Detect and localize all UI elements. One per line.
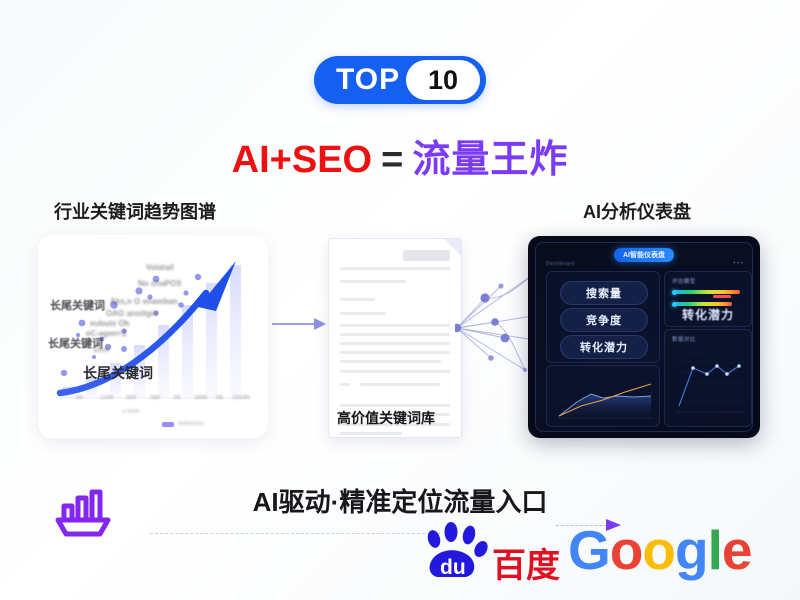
blurred-keyword-tag: eubuio Oh [90, 319, 130, 328]
document-label: 高价值关键词库 [337, 408, 435, 428]
metric-pill-search-volume[interactable]: 搜索量 [560, 281, 648, 305]
area-chart-panel [546, 365, 660, 427]
google-letter: l [708, 519, 722, 581]
gradient-bar-1 [674, 290, 740, 294]
baidu-du-text: du [440, 556, 466, 579]
axis-tick-label: 00 [174, 395, 181, 401]
blurred-keyword-tag: Volatail [146, 263, 174, 272]
blurred-keyword-tag: ssoit [93, 347, 109, 354]
blurred-keyword-tag: No shaPOS [138, 279, 182, 288]
keyword-trend-card: 长尾关键词 长尾关键词 长尾关键词 Volatail No shaPOS Aks… [38, 235, 268, 438]
line-chart-svg [665, 330, 751, 426]
gradient-gauge-panel: 评估模型 转化潜力 [664, 271, 752, 327]
ai-dashboard-card: AI智能仪表盘 Dashboard • • • 搜索量 竞争度 转化潜力 [528, 236, 760, 438]
title-left: AI+SEO [232, 139, 372, 181]
axis-tick-label: 00 [76, 395, 83, 401]
metric-pills-panel: 搜索量 竞争度 转化潜力 [546, 271, 660, 363]
top-badge-label: TOP [314, 56, 400, 104]
baidu-chinese-text: 百度 [492, 538, 560, 587]
gradient-overlay-label: 转化潜力 [665, 306, 751, 323]
axis-caption: 1-63m [122, 409, 139, 415]
gradient-panel-title: 评估模型 [672, 277, 696, 285]
blurred-keyword-tag: eC-agen=2 [86, 329, 127, 338]
bottom-tagline: AI驱动·精准定位流量入口 [0, 482, 800, 519]
google-letter: g [675, 519, 708, 581]
google-letter: o [642, 519, 675, 581]
google-logo: Google [568, 518, 751, 582]
axis-tick-label: 1346 [100, 395, 113, 401]
baidu-logo: du 百度 [420, 522, 560, 584]
blurred-keyword-tag: OAG anottgio [106, 309, 158, 318]
gradient-marker-1 [672, 290, 677, 295]
alert-indicator [713, 295, 731, 298]
area-chart-svg [547, 366, 659, 426]
axis-tick-label: 1006 [194, 395, 207, 401]
metric-pill-conversion[interactable]: 转化潜力 [560, 335, 648, 359]
axis-tick-label: 204 [126, 395, 136, 401]
slide-canvas: TOP 10 AI+SEO=流量王炸 行业关键词趋势图谱 AI分析仪表盘 [0, 0, 800, 600]
longtail-keyword-tag: 长尾关键词 [50, 297, 105, 313]
line-chart-panel: 数据对比 [664, 329, 752, 427]
top-rank-badge: TOP 10 [314, 56, 486, 104]
dashboard-screen: AI智能仪表盘 Dashboard • • • 搜索量 竞争度 转化潜力 [535, 242, 753, 432]
google-letter: e [722, 519, 752, 581]
bar-chart-pedestal-icon [48, 484, 118, 546]
document-header-block [403, 250, 450, 261]
legend-swatch [162, 422, 174, 427]
dashboard-menu-icon[interactable]: • • • [733, 261, 743, 267]
title-operator: = [372, 139, 412, 181]
section-label-dashboard: AI分析仪表盘 [583, 198, 691, 224]
google-letter: G [568, 519, 610, 581]
google-letter: o [610, 519, 643, 581]
dashboard-title-badge: AI智能仪表盘 [614, 248, 674, 262]
axis-tick-label: 184 [150, 395, 160, 401]
blurred-keyword-tag: Aks,n O snamban [110, 297, 178, 306]
top-badge-number: 10 [406, 60, 480, 100]
trend-card-labels: 长尾关键词 长尾关键词 长尾关键词 Volatail No shaPOS Aks… [38, 235, 268, 438]
title-right: 流量王炸 [412, 139, 568, 181]
flow-arrow-icon [272, 316, 328, 332]
metric-pill-competition[interactable]: 竞争度 [560, 308, 648, 332]
page-title: AI+SEO=流量王炸 [0, 128, 800, 183]
chart-legend: Indexvas [178, 421, 204, 427]
section-divider [150, 533, 440, 534]
keyword-library-document: 高价值关键词库 [328, 238, 462, 438]
longtail-keyword-tag: 长尾关键词 [83, 363, 153, 383]
dashboard-kicker: Dashboard [546, 261, 575, 267]
axis-tick-label: 1024N [232, 395, 250, 401]
axis-tick-label: 08 [216, 395, 223, 401]
section-label-trend: 行业关键词趋势图谱 [54, 198, 216, 224]
